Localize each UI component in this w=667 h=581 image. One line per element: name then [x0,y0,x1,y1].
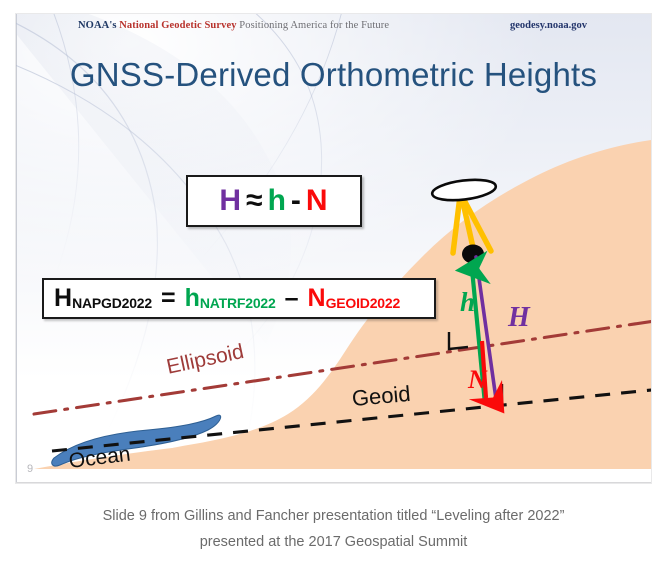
eq2-N-subscript: GEOID2022 [326,295,400,311]
label-h-ellipsoidal-height: h [460,287,475,318]
eq1-minus: - [291,184,302,218]
height-relationship-diagram [16,14,651,483]
caption-line-2: presented at the 2017 Geospatial Summit [33,529,634,555]
eq1-N: N [306,184,329,218]
presentation-slide: NOAA's National Geodetic Survey Position… [16,14,651,483]
screenshot-root: NOAA's National Geodetic Survey Position… [0,0,667,581]
eq2-minus: – [285,284,299,313]
eq1-H: H [219,184,242,218]
eq2-h-subscript: NATRF2022 [200,295,276,311]
eq1-approx: ≈ [246,184,263,218]
gnss-antenna-icon [431,177,497,204]
eq2-H-subscript: NAPGD2022 [72,295,152,311]
label-H-orthometric-height: H [508,302,530,334]
caption-line-1: Slide 9 from Gillins and Fancher present… [33,503,634,529]
eq2-H: H [54,284,72,313]
slide-number: 9 [27,463,33,475]
survey-point-marker [462,245,484,264]
figure-caption: Slide 9 from Gillins and Fancher present… [33,503,634,555]
eq1-h: h [268,184,287,218]
label-geoid: Geoid [351,381,412,412]
equation-simple-box: H ≈ h - N [186,175,362,227]
eq2-h: h [185,284,200,313]
label-N-geoid-height: N [468,365,487,395]
eq2-equals: = [161,284,176,313]
equation-full-box: HNAPGD2022=hNATRF2022–NGEOID2022 [42,278,436,319]
eq2-N: N [308,284,326,313]
